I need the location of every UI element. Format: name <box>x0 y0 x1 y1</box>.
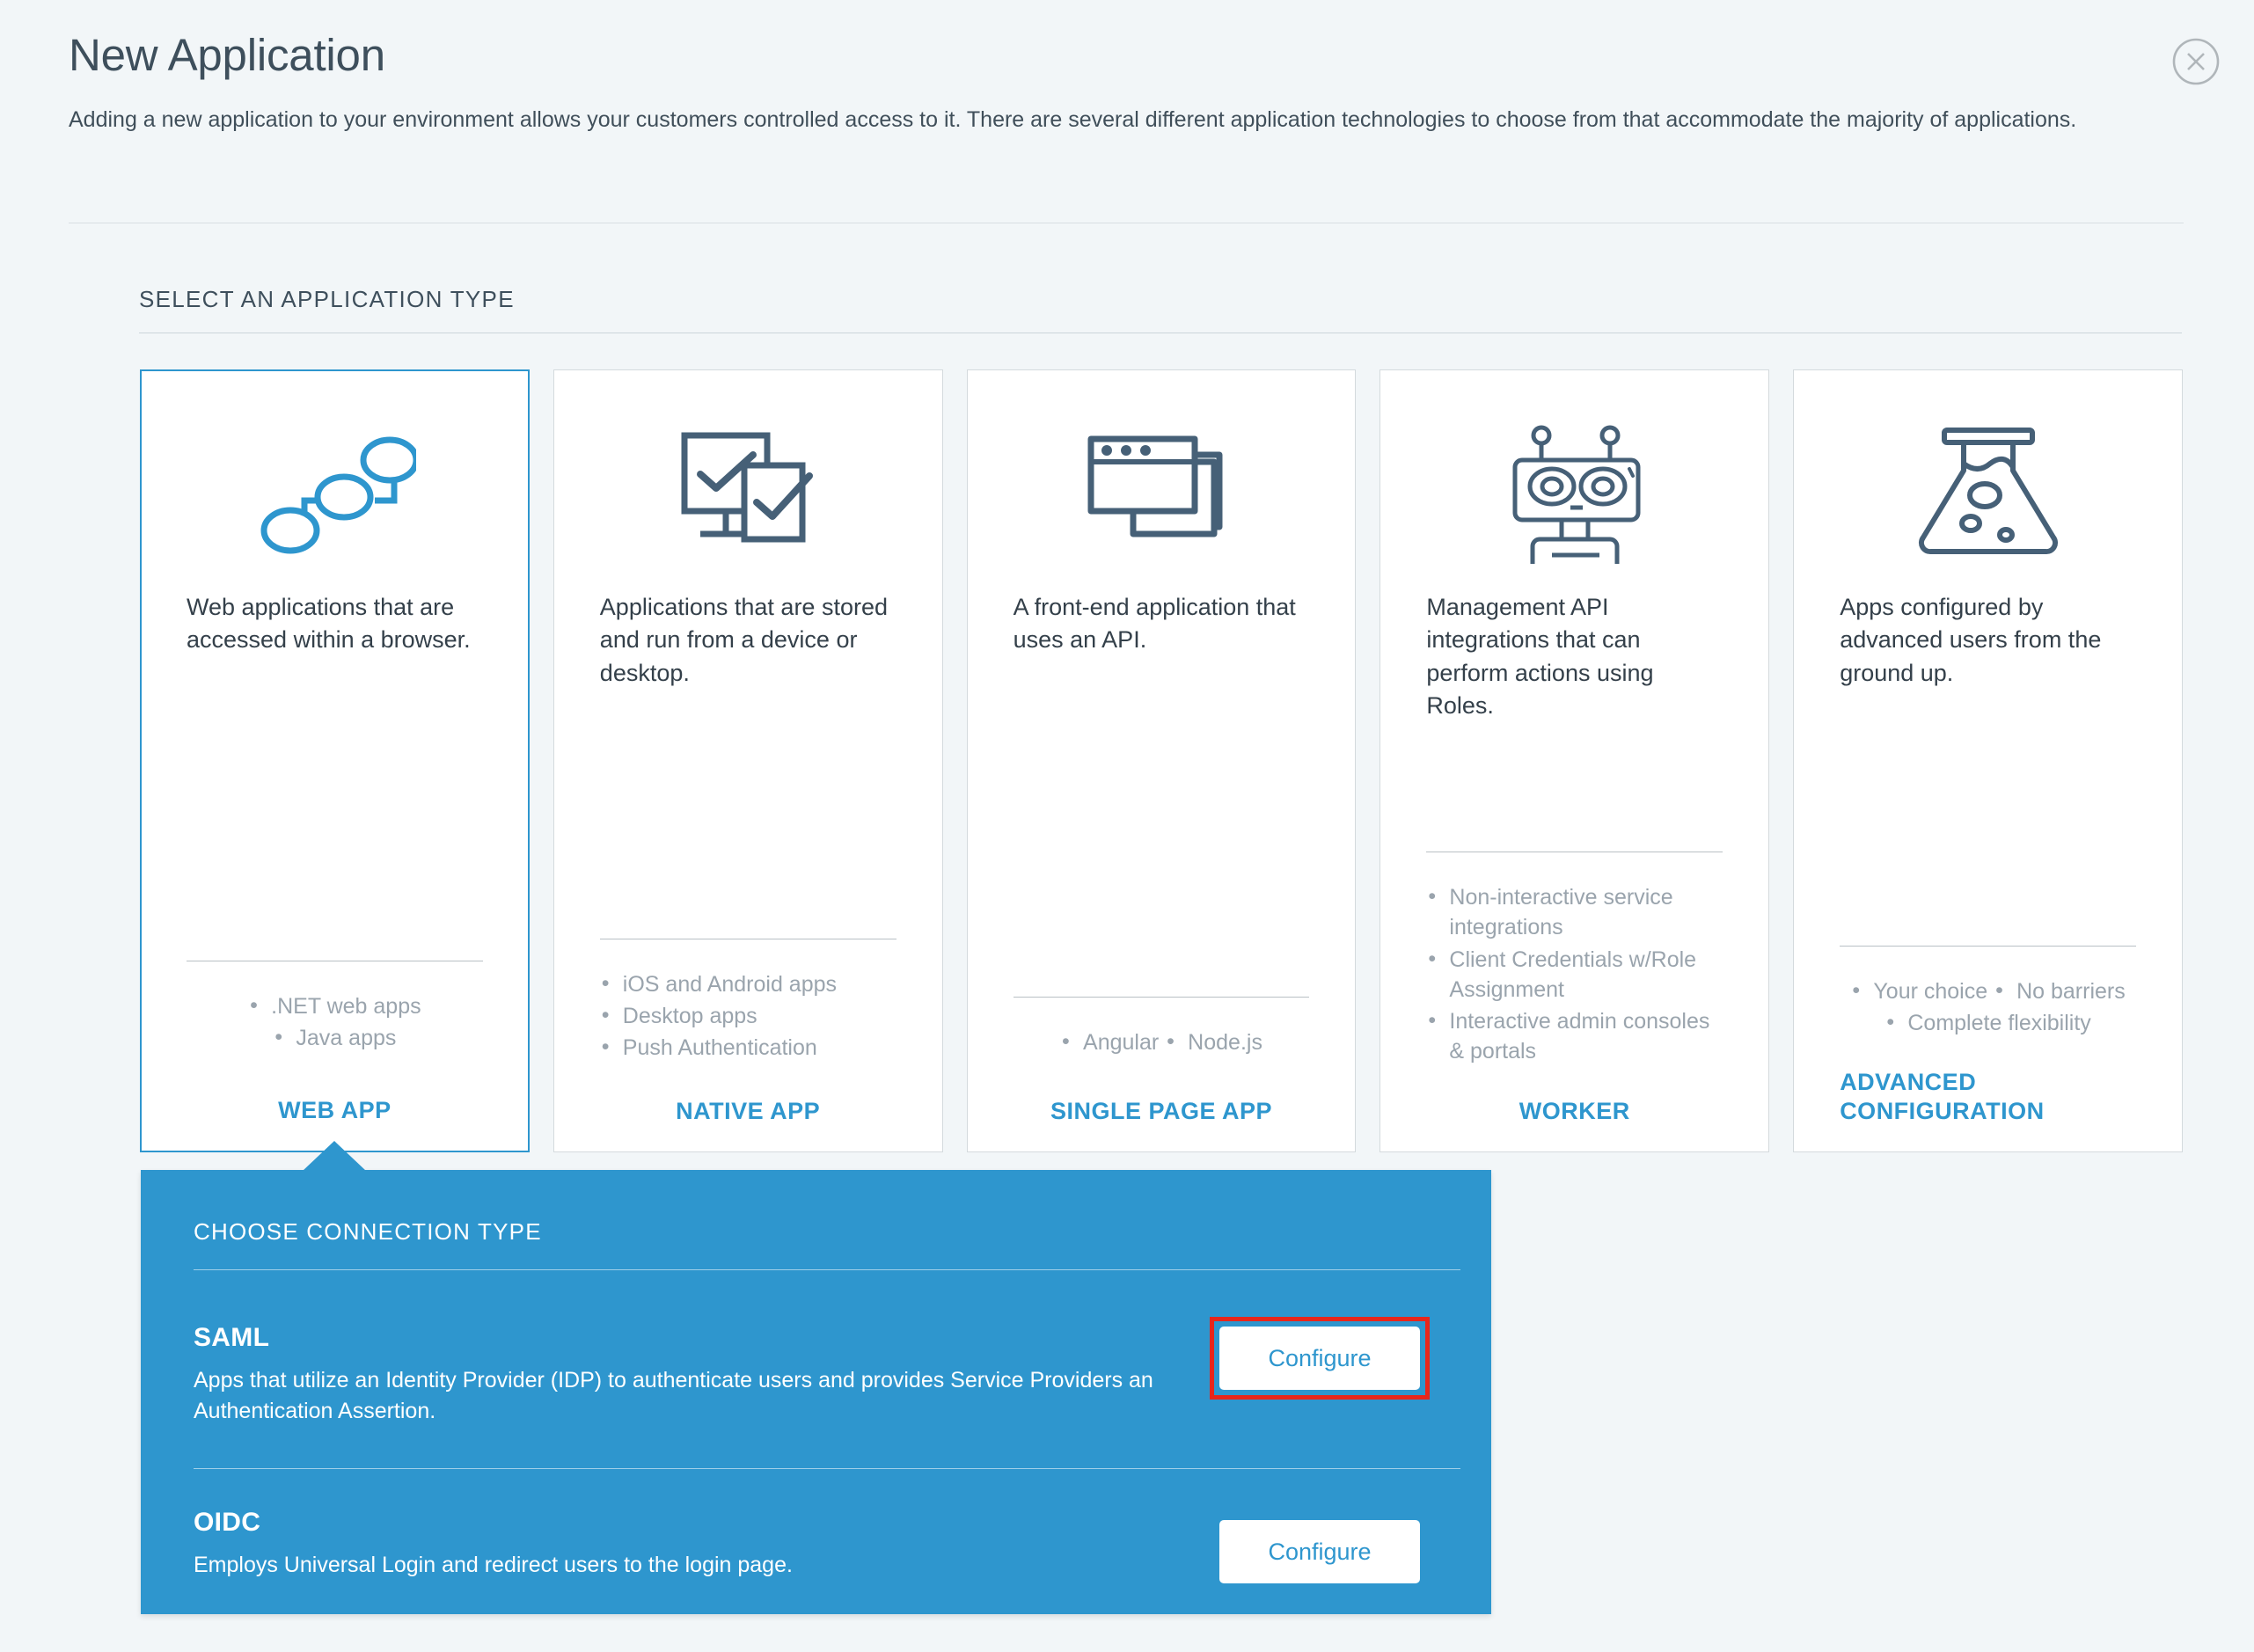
app-type-card-single-page-app[interactable]: A front-end application that uses an API… <box>967 369 1357 1152</box>
connection-option-text: SAML Apps that utilize an Identity Provi… <box>194 1323 1188 1426</box>
card-divider <box>187 961 483 961</box>
card-footer: Non-interactive service integrations Cli… <box>1426 852 1723 1151</box>
card-bullet-list: Non-interactive service integrations Cli… <box>1426 882 1723 1067</box>
card-footer: .NET web apps Java apps WEB APP <box>187 961 483 1151</box>
nodes-graph-icon <box>187 416 483 570</box>
connection-option-description: Employs Universal Login and redirect use… <box>194 1550 1188 1581</box>
card-cta-native-app[interactable]: NATIVE APP <box>600 1097 896 1151</box>
card-divider <box>1014 997 1310 998</box>
connection-option-saml: SAML Apps that utilize an Identity Provi… <box>178 1270 1454 1426</box>
connection-panel-title: CHOOSE CONNECTION TYPE <box>178 1170 1454 1246</box>
modal-header: New Application Adding a new application… <box>69 30 2180 135</box>
list-item: Java apps <box>273 1023 396 1053</box>
oidc-configure-button[interactable]: Configure <box>1219 1520 1420 1583</box>
card-footer: iOS and Android apps Desktop apps Push A… <box>600 939 896 1151</box>
saml-configure-button-wrap: Configure <box>1219 1327 1420 1390</box>
list-item: Angular <box>1060 1027 1159 1057</box>
card-spacer <box>1840 723 2136 946</box>
app-type-card-advanced-configuration[interactable]: Apps configured by advanced users from t… <box>1793 369 2183 1152</box>
selected-card-pointer <box>303 1141 366 1171</box>
list-item: Interactive admin consoles & portals <box>1426 1006 1723 1067</box>
connection-option-description: Apps that utilize an Identity Provider (… <box>194 1365 1188 1426</box>
flask-icon <box>1840 416 2136 570</box>
card-bullet-list: .NET web apps Java apps <box>187 991 483 1056</box>
list-item: Node.js <box>1165 1027 1262 1057</box>
card-description: Web applications that are accessed withi… <box>187 591 483 723</box>
card-cta-advanced-configuration[interactable]: ADVANCED CONFIGURATION <box>1840 1068 2136 1151</box>
desktop-checkbox-icon <box>600 416 896 570</box>
card-spacer <box>1426 723 1723 852</box>
card-bullet-list: Angular Node.js <box>1014 1027 1310 1059</box>
robot-icon <box>1426 416 1723 570</box>
section-label: SELECT AN APPLICATION TYPE <box>139 286 515 313</box>
choose-connection-type-panel: CHOOSE CONNECTION TYPE SAML Apps that ut… <box>141 1170 1491 1614</box>
card-description: A front-end application that uses an API… <box>1014 591 1310 723</box>
close-icon[interactable] <box>2171 37 2221 86</box>
connection-option-name: SAML <box>194 1323 1188 1353</box>
card-bullet-list: iOS and Android apps Desktop apps Push A… <box>600 969 896 1064</box>
list-item: No barriers <box>1994 976 2126 1006</box>
section-divider <box>139 333 2182 333</box>
card-description: Management API integrations that can per… <box>1426 591 1723 723</box>
oidc-configure-button-wrap: Configure <box>1219 1520 1420 1583</box>
connection-option-name: OIDC <box>194 1508 1188 1538</box>
card-bullet-list: Your choice No barriers Complete flexibi… <box>1840 976 2136 1041</box>
list-item: Push Authentication <box>600 1033 896 1063</box>
list-item: .NET web apps <box>248 991 421 1021</box>
card-divider <box>1840 946 2136 947</box>
list-item: Non-interactive service integrations <box>1426 882 1723 943</box>
connection-option-text: OIDC Employs Universal Login and redirec… <box>194 1508 1188 1581</box>
app-type-card-native-app[interactable]: Applications that are stored and run fro… <box>553 369 943 1152</box>
card-spacer <box>600 723 896 939</box>
list-item: Desktop apps <box>600 1001 896 1031</box>
card-spacer <box>187 723 483 961</box>
card-description: Applications that are stored and run fro… <box>600 591 896 723</box>
app-type-card-worker[interactable]: Management API integrations that can per… <box>1379 369 1769 1152</box>
app-type-card-web-app[interactable]: Web applications that are accessed withi… <box>140 369 530 1152</box>
card-spacer <box>1014 723 1310 997</box>
header-divider <box>69 223 2184 223</box>
card-footer: Your choice No barriers Complete flexibi… <box>1840 946 2136 1151</box>
card-cta-worker[interactable]: WORKER <box>1426 1097 1723 1151</box>
list-item: Your choice <box>1850 976 1987 1006</box>
card-divider <box>600 939 896 939</box>
new-application-modal: New Application Adding a new application… <box>0 0 2254 1652</box>
list-item: Complete flexibility <box>1884 1008 2090 1038</box>
page-subtitle: Adding a new application to your environ… <box>69 105 2180 136</box>
list-item: Client Credentials w/Role Assignment <box>1426 945 1723 1005</box>
browser-windows-icon <box>1014 416 1310 570</box>
connection-option-oidc: OIDC Employs Universal Login and redirec… <box>178 1469 1454 1583</box>
application-type-cards: Web applications that are accessed withi… <box>140 369 2183 1152</box>
card-footer: Angular Node.js SINGLE PAGE APP <box>1014 997 1310 1151</box>
card-description: Apps configured by advanced users from t… <box>1840 591 2136 723</box>
card-divider <box>1426 852 1723 852</box>
list-item: iOS and Android apps <box>600 969 896 999</box>
saml-configure-button[interactable]: Configure <box>1219 1327 1420 1390</box>
page-title: New Application <box>69 30 2180 82</box>
card-cta-single-page-app[interactable]: SINGLE PAGE APP <box>1014 1097 1310 1151</box>
